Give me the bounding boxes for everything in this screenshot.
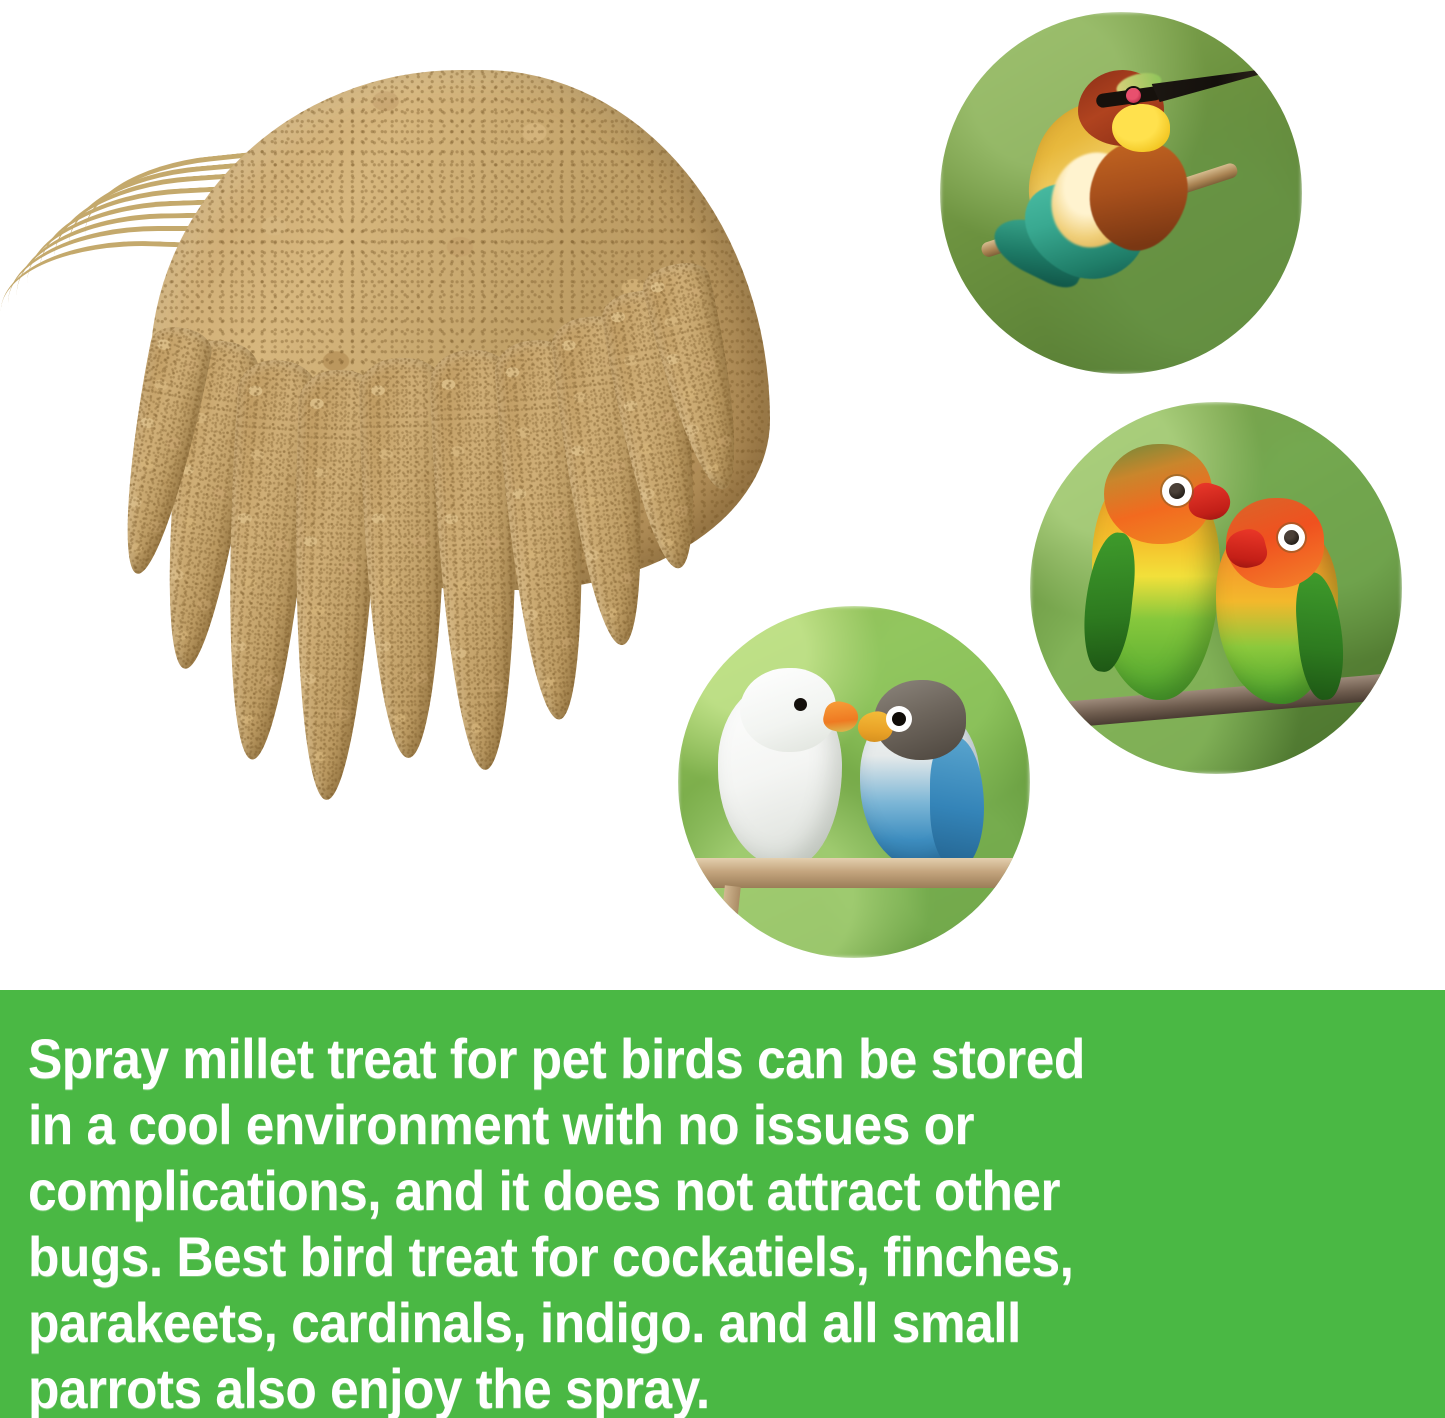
bird-photo-fischers-lovebirds: [1030, 402, 1402, 774]
photo-area: [0, 0, 1445, 990]
bee-eater-eye: [1126, 88, 1141, 103]
white-lovebird-eye: [794, 698, 807, 711]
wooden-perch: [692, 858, 1022, 888]
bird-photo-bee-eater: [940, 12, 1302, 374]
lovebird-left-eye: [1162, 476, 1192, 506]
blue-lovebird-eye: [886, 706, 912, 732]
bird-photo-white-and-blue-lovebirds: [678, 606, 1030, 958]
bee-eater-yellow-throat: [1112, 104, 1170, 152]
white-lovebird-head: [740, 668, 836, 752]
promo-banner: Spray millet treat for pet birds can be …: [0, 990, 1445, 1418]
millet-spray-product-photo: [0, 40, 790, 830]
lovebird-right-eye: [1278, 524, 1305, 551]
product-marketing-image: Spray millet treat for pet birds can be …: [0, 0, 1445, 1418]
promo-description-text: Spray millet treat for pet birds can be …: [28, 1026, 1123, 1418]
